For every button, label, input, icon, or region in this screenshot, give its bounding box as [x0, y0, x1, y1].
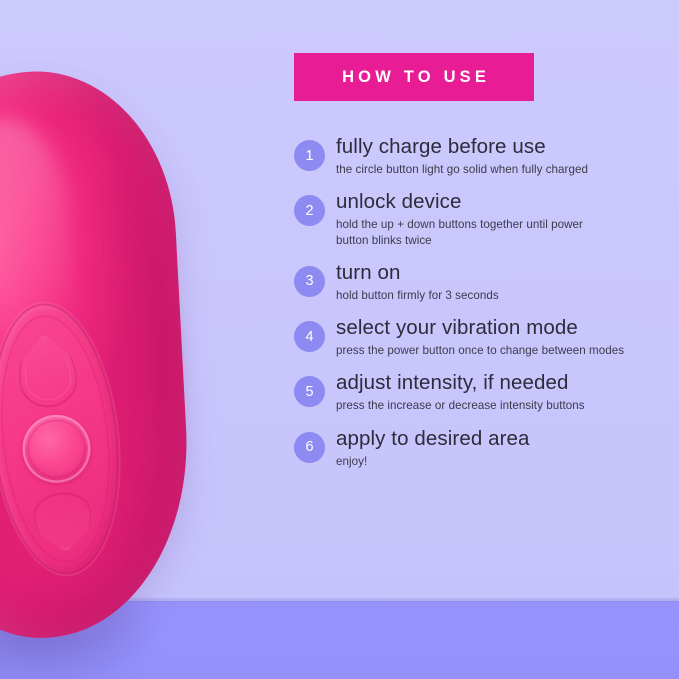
- step-text-group: apply to desired area enjoy!: [325, 428, 679, 469]
- step-subtitle-line: the circle button light go solid when fu…: [336, 162, 679, 177]
- step-subtitle-line: press the power button once to change be…: [336, 343, 679, 358]
- list-item: 5 adjust intensity, if needed press the …: [294, 372, 679, 413]
- product-image: [0, 72, 212, 638]
- steps-list: 1 fully charge before use the circle but…: [294, 136, 679, 483]
- step-text-group: turn on hold button firmly for 3 seconds: [325, 262, 679, 303]
- step-title: unlock device: [336, 191, 679, 214]
- step-subtitle-line: press the increase or decrease intensity…: [336, 398, 679, 413]
- product-control-panel: [0, 297, 131, 580]
- step-number-badge: 1: [294, 140, 325, 171]
- step-title: apply to desired area: [336, 428, 679, 451]
- step-subtitle: press the increase or decrease intensity…: [336, 398, 679, 413]
- how-to-use-infographic: HOW TO USE 1 fully charge before use the…: [0, 0, 679, 679]
- step-title: select your vibration mode: [336, 317, 679, 340]
- list-item: 6 apply to desired area enjoy!: [294, 428, 679, 469]
- step-number-badge: 3: [294, 266, 325, 297]
- step-number-badge: 5: [294, 376, 325, 407]
- step-subtitle: press the power button once to change be…: [336, 343, 679, 358]
- step-title: turn on: [336, 262, 679, 285]
- step-subtitle: the circle button light go solid when fu…: [336, 162, 679, 177]
- step-title: fully charge before use: [336, 136, 679, 159]
- product-body: [0, 65, 197, 646]
- step-subtitle-line: hold button firmly for 3 seconds: [336, 288, 679, 303]
- step-text-group: fully charge before use the circle butto…: [325, 136, 679, 177]
- list-item: 3 turn on hold button firmly for 3 secon…: [294, 262, 679, 303]
- step-subtitle-line: hold the up + down buttons together unti…: [336, 217, 679, 232]
- step-subtitle: hold the up + down buttons together unti…: [336, 217, 679, 248]
- banner-title: HOW TO USE: [338, 68, 490, 87]
- list-item: 4 select your vibration mode press the p…: [294, 317, 679, 358]
- instructions-column: HOW TO USE 1 fully charge before use the…: [294, 0, 679, 679]
- step-subtitle-line: button blinks twice: [336, 233, 679, 248]
- list-item: 2 unlock device hold the up + down butto…: [294, 191, 679, 248]
- step-subtitle: enjoy!: [336, 454, 679, 469]
- step-subtitle: hold button firmly for 3 seconds: [336, 288, 679, 303]
- step-subtitle-line: enjoy!: [336, 454, 679, 469]
- step-number-badge: 6: [294, 432, 325, 463]
- step-number-badge: 2: [294, 195, 325, 226]
- list-item: 1 fully charge before use the circle but…: [294, 136, 679, 177]
- step-number-badge: 4: [294, 321, 325, 352]
- step-text-group: select your vibration mode press the pow…: [325, 317, 679, 358]
- step-title: adjust intensity, if needed: [336, 372, 679, 395]
- step-text-group: unlock device hold the up + down buttons…: [325, 191, 679, 248]
- step-text-group: adjust intensity, if needed press the in…: [325, 372, 679, 413]
- how-to-use-banner: HOW TO USE: [294, 53, 534, 101]
